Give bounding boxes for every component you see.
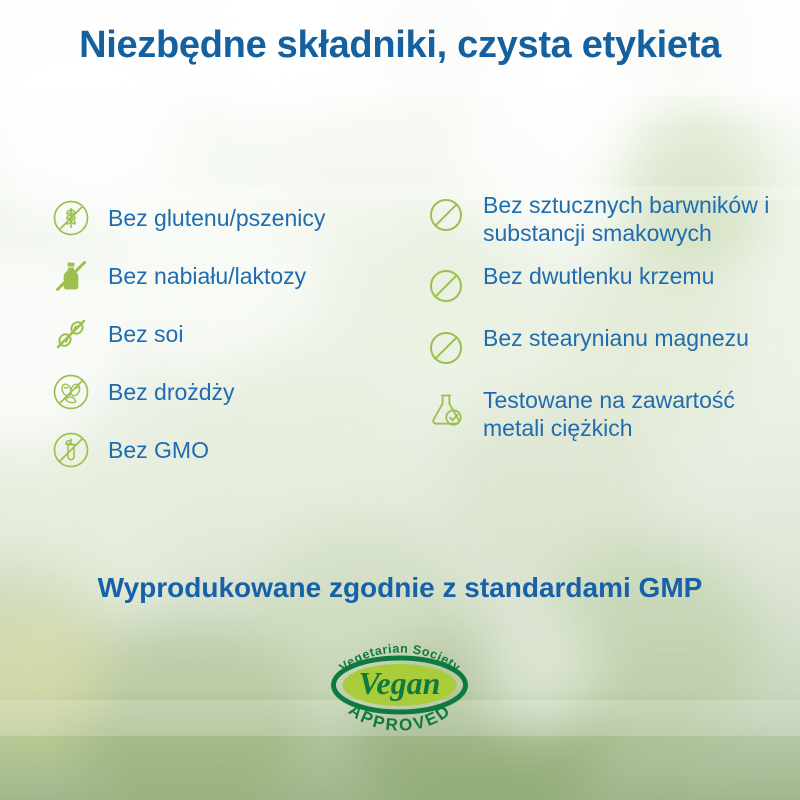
feature-no-artificial-colours-flavours: Bez sztucznych barwników i substancji sm… bbox=[423, 190, 800, 247]
feature-label: Bez drożdży bbox=[108, 377, 235, 406]
feature-label: Bez soi bbox=[108, 319, 183, 348]
feature-label: Bez GMO bbox=[108, 435, 209, 464]
feature-label: Bez dwutlenku krzemu bbox=[483, 261, 714, 290]
feature-label: Bez nabiału/laktozy bbox=[108, 261, 306, 290]
no-yeast-bread-icon bbox=[48, 369, 94, 415]
feature-label: Bez sztucznych barwników i substancji sm… bbox=[483, 190, 793, 247]
feature-no-silicon-dioxide: Bez dwutlenku krzemu bbox=[423, 261, 800, 309]
features-column-right: Bez sztucznych barwników i substancji sm… bbox=[415, 190, 800, 456]
no-gluten-wheat-icon bbox=[48, 195, 94, 241]
no-gmo-testtube-icon bbox=[48, 427, 94, 473]
feature-label: Testowane na zawartość metali ciężkich bbox=[483, 385, 793, 442]
gmp-statement: Wyprodukowane zgodnie z standardami GMP bbox=[0, 572, 800, 604]
prohibition-icon bbox=[423, 263, 469, 309]
prohibition-icon bbox=[423, 325, 469, 371]
no-dairy-bottle-icon bbox=[48, 253, 94, 299]
logo-main-text: Vegan bbox=[359, 665, 441, 701]
feature-no-yeast: Bez drożdży bbox=[48, 364, 415, 420]
feature-label: Bez glutenu/pszenicy bbox=[108, 203, 325, 232]
logo-registered-mark: ® bbox=[445, 661, 452, 671]
feature-no-gluten: Bez glutenu/pszenicy bbox=[48, 190, 415, 246]
page-title: Niezbędne składniki, czysta etykieta bbox=[0, 24, 800, 67]
features-columns: Bez glutenu/pszenicy Bez nabiału/laktozy bbox=[0, 190, 800, 480]
feature-label: Bez stearynianu magnezu bbox=[483, 323, 749, 352]
feature-heavy-metals-tested: Testowane na zawartość metali ciężkich bbox=[423, 385, 800, 442]
features-column-left: Bez glutenu/pszenicy Bez nabiału/laktozy bbox=[0, 190, 415, 480]
feature-no-gmo: Bez GMO bbox=[48, 422, 415, 478]
feature-no-magnesium-stearate: Bez stearynianu magnezu bbox=[423, 323, 800, 371]
prohibition-icon bbox=[423, 192, 469, 238]
flask-check-icon bbox=[423, 387, 469, 433]
no-soy-leaf-icon bbox=[48, 311, 94, 357]
vegetarian-society-vegan-approved-logo: Vegetarian Society Vegan ® APPROVED bbox=[308, 636, 493, 736]
feature-no-soy: Bez soi bbox=[48, 306, 415, 362]
feature-no-dairy: Bez nabiału/laktozy bbox=[48, 248, 415, 304]
